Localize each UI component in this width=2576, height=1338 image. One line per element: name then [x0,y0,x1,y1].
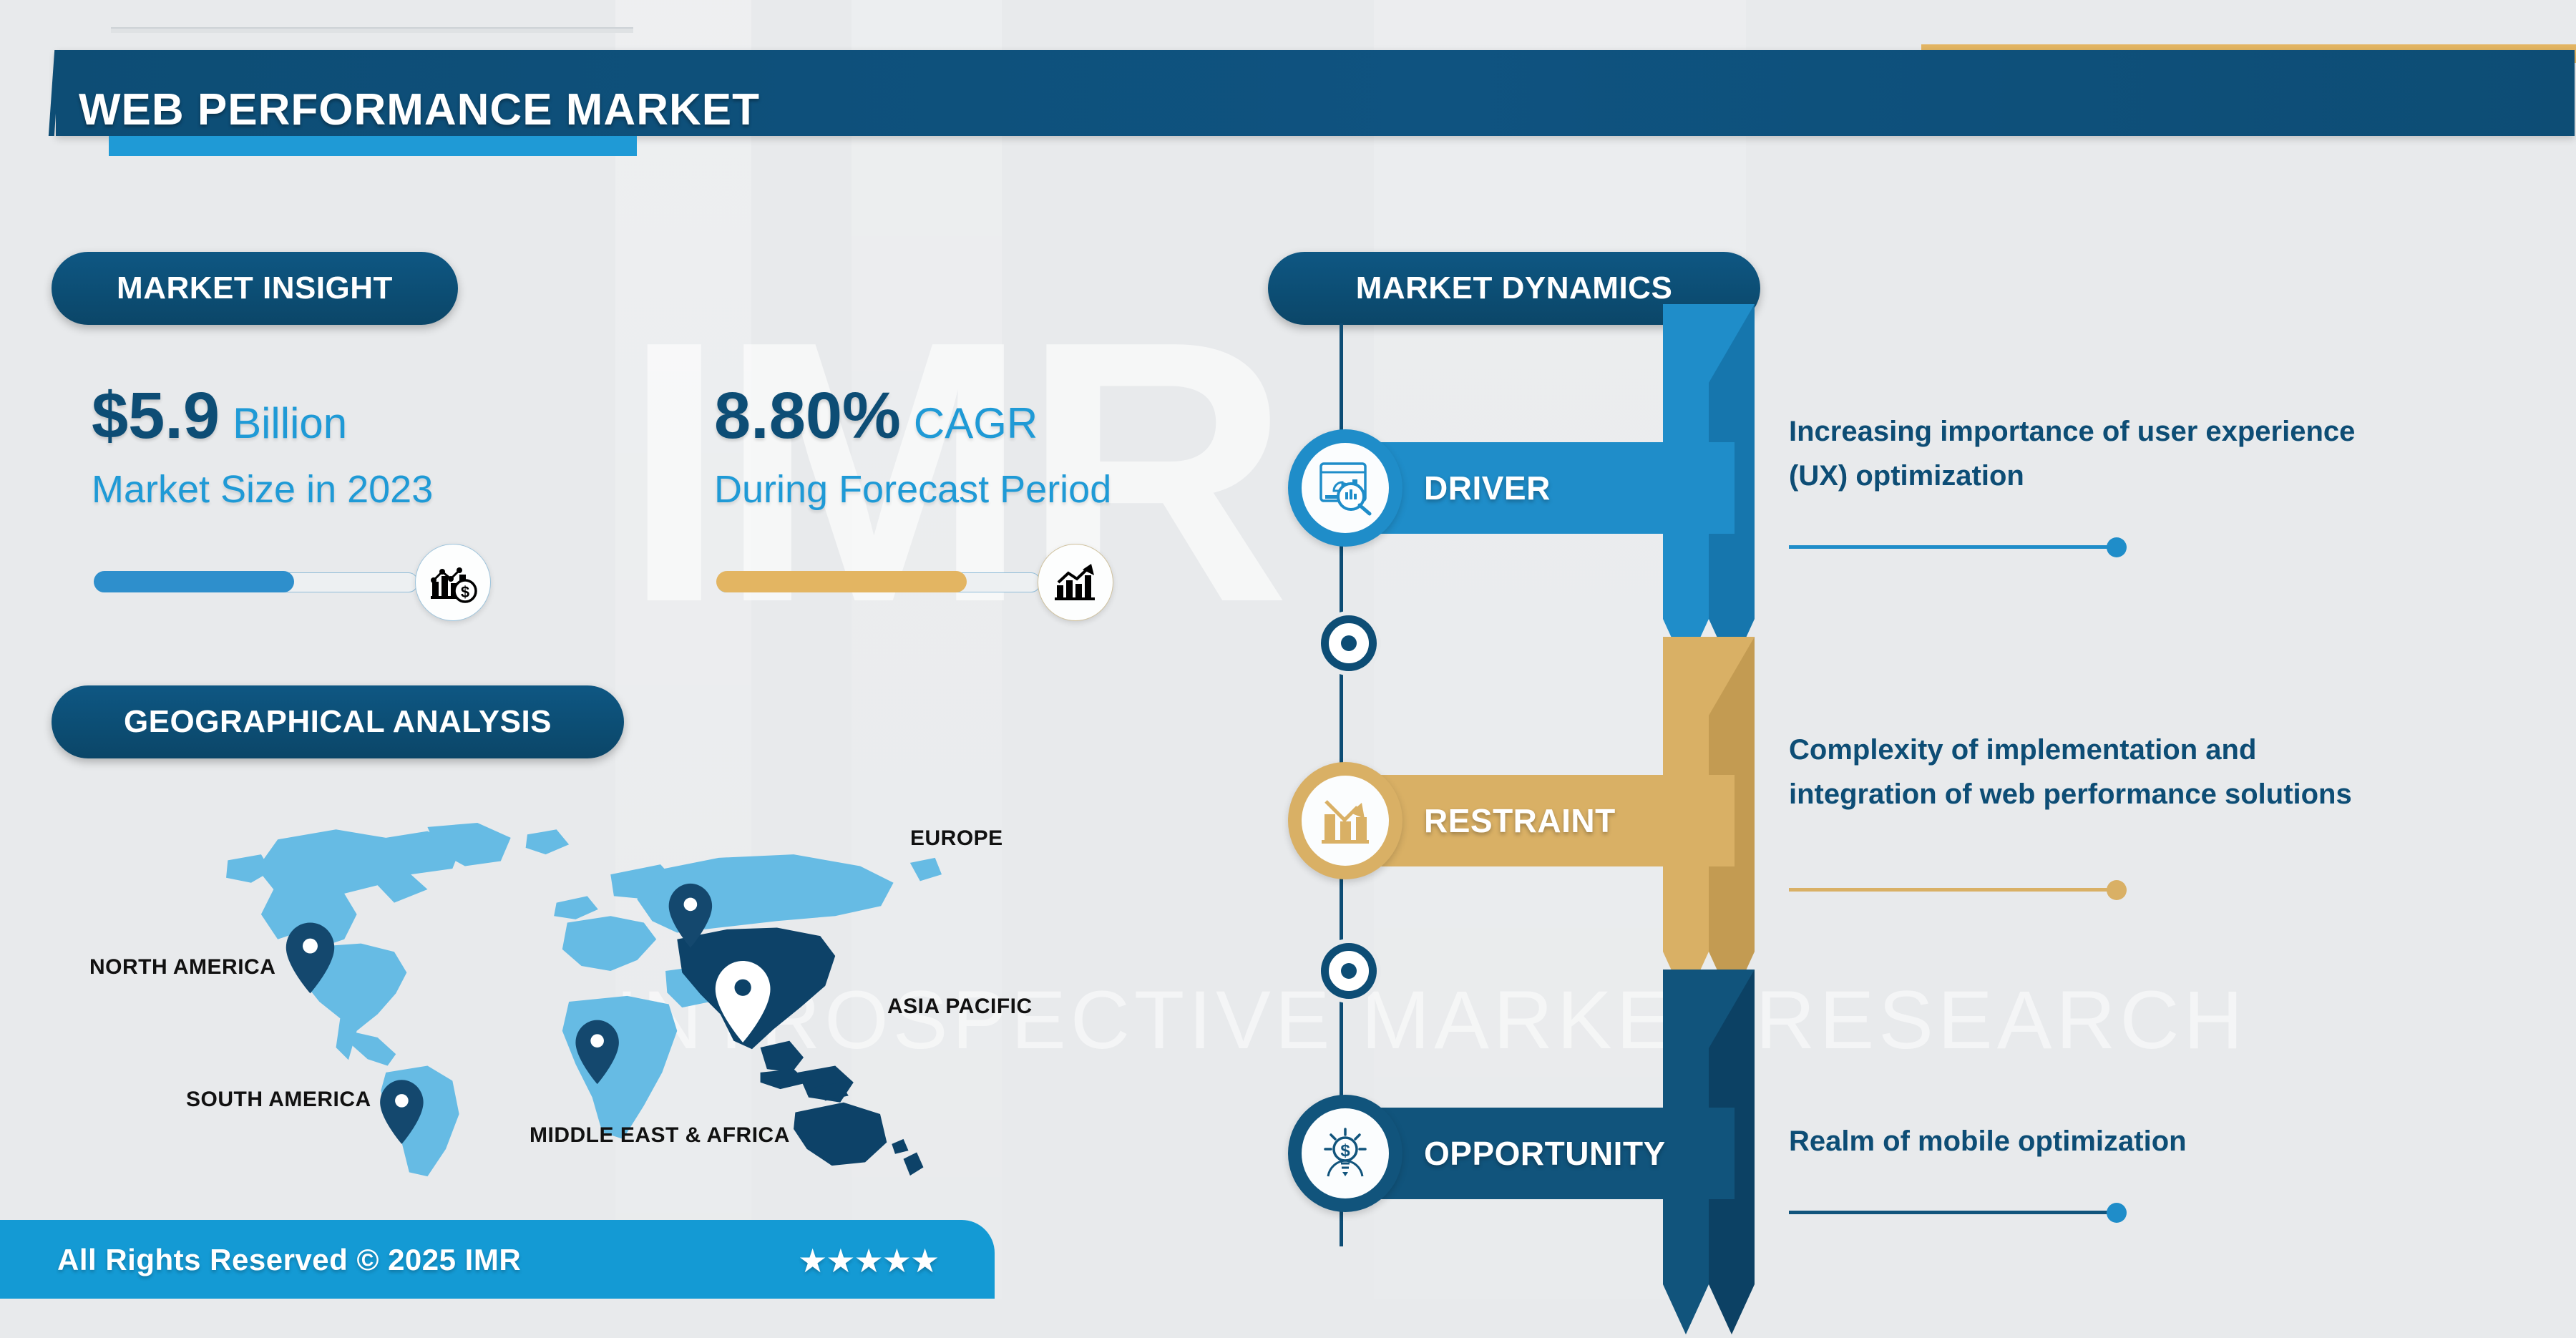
restraint-rule-dot [2107,880,2127,900]
market-size-progress-fill [94,571,294,592]
metric-market-size-unit: Billion [233,402,347,445]
map-label-europe: EUROPE [910,826,1003,851]
restraint-badge [1288,762,1402,879]
opportunity-badge: $ [1288,1095,1402,1212]
footer-bar: All Rights Reserved © 2025 IMR ★★★★★ [0,1220,995,1299]
footer-star-rating: ★★★★★ [798,1241,938,1280]
declining-bar-chart-icon [1302,776,1389,866]
driver-rule [1789,545,2117,549]
restraint-rule [1789,888,2117,892]
market-insight-pill: MARKET INSIGHT [52,252,458,325]
market-dynamics-label: MARKET DYNAMICS [1356,270,1673,306]
infographic-canvas: IMR INTROSPECTIVE MARKET RESEARCH WEB PE… [0,0,2576,1299]
metric-market-size: $5.9Billion Market Size in 2023 [92,383,433,512]
svg-text:$: $ [1340,1141,1350,1161]
opportunity-label: OPPORTUNITY [1424,1134,1666,1173]
timeline-node-2 [1321,943,1377,999]
metric-cagr: 8.80%CAGR During Forecast Period [714,383,1111,512]
bar-chart-dollar-icon: $ [415,544,491,621]
metric-cagr-caption: During Forecast Period [714,467,1111,512]
lightbulb-dollar-icon: $ [1302,1108,1389,1198]
footer-copyright: All Rights Reserved © 2025 IMR [57,1243,521,1277]
growth-arrow-icon [1038,544,1113,621]
restraint-label: RESTRAINT [1424,801,1616,840]
driver-badge [1288,429,1402,547]
opportunity-rule [1789,1211,2117,1214]
header-blue-accent [109,136,637,156]
driver-rule-dot [2107,537,2127,557]
metric-cagr-value: 8.80% [714,383,901,449]
restraint-text: Complexity of implementation and integra… [1789,728,2383,816]
svg-text:$: $ [461,583,469,601]
timeline-node-1 [1321,615,1377,671]
metric-market-size-value: $5.9 [92,383,220,449]
metric-market-size-caption: Market Size in 2023 [92,467,433,512]
opportunity-text: Realm of mobile optimization [1789,1119,2383,1163]
map-label-middle-east-africa: MIDDLE EAST & AFRICA [530,1123,790,1148]
metric-cagr-unit: CAGR [914,402,1038,445]
dashboard-analytics-search-icon [1302,443,1389,533]
cagr-progress-bar [717,572,1040,592]
market-insight-label: MARKET INSIGHT [117,270,393,306]
market-size-progress-bar [94,572,418,592]
driver-text: Increasing importance of user experience… [1789,409,2383,498]
map-label-north-america: NORTH AMERICA [89,955,275,980]
geographical-analysis-pill: GEOGRAPHICAL ANALYSIS [52,685,624,758]
geographical-analysis-label: GEOGRAPHICAL ANALYSIS [124,704,552,740]
driver-label: DRIVER [1424,469,1551,507]
cagr-progress-fill [716,571,967,592]
page-title: WEB PERFORMANCE MARKET [79,84,760,135]
map-label-south-america: SOUTH AMERICA [186,1088,371,1112]
header-thin-rule [111,27,633,33]
opportunity-rule-dot [2107,1203,2127,1223]
map-label-asia-pacific: ASIA PACIFIC [887,995,1033,1019]
